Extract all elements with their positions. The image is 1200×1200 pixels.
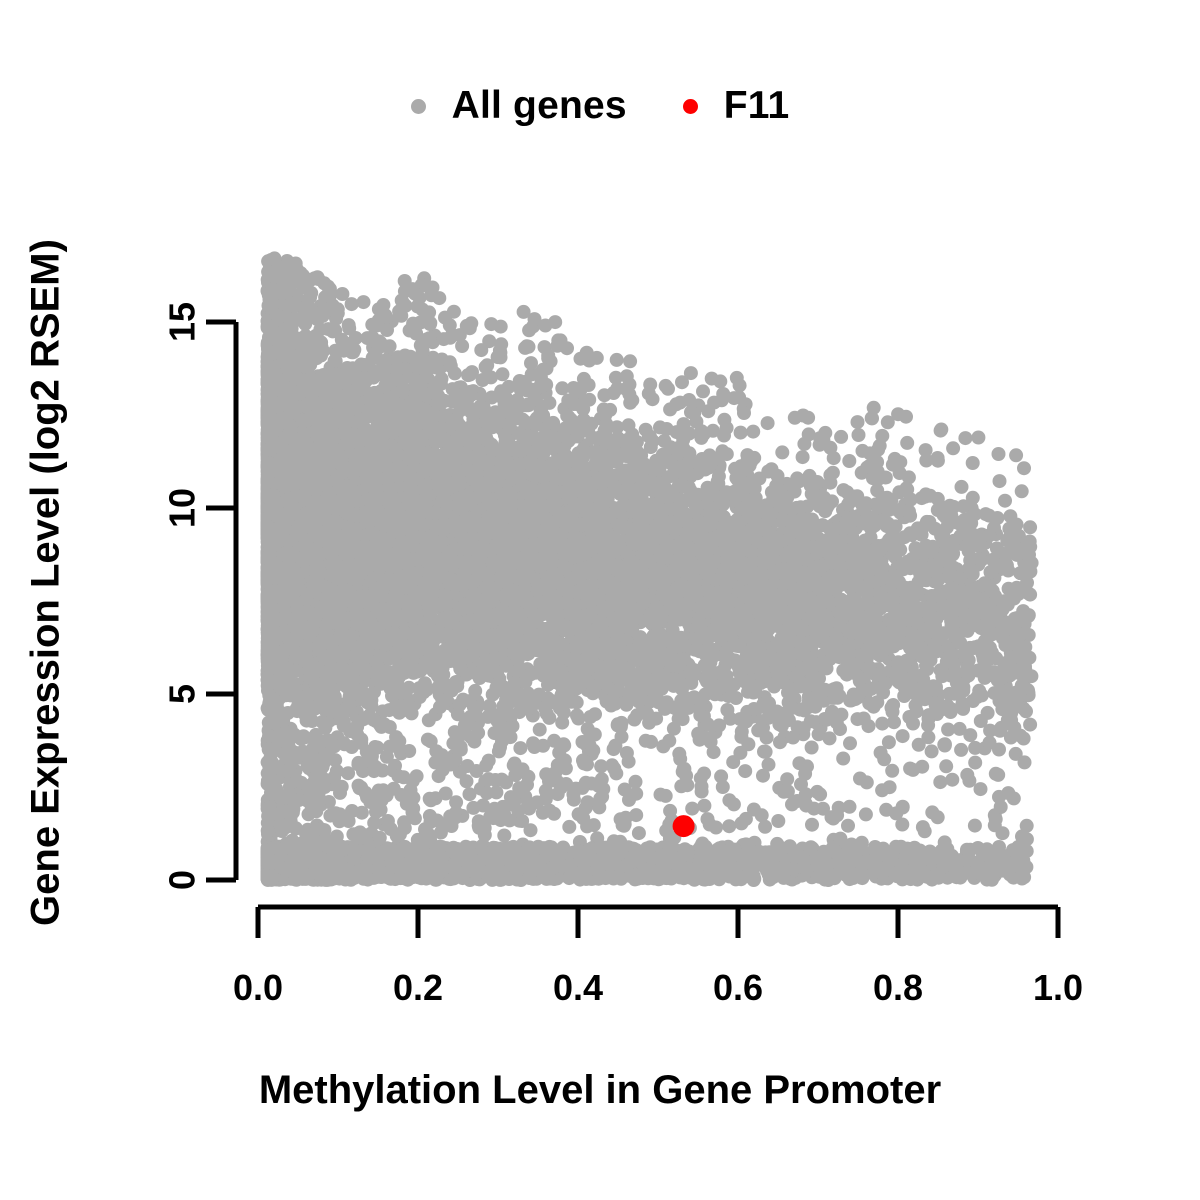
x-tick-label-0-0: 0.0	[233, 967, 283, 1008]
highlighted-point-f11	[673, 815, 695, 837]
x-axis-title: Methylation Level in Gene Promoter	[0, 1068, 1200, 1113]
y-tick-label-15: 15	[162, 302, 203, 342]
x-tick-label-0-8: 0.8	[873, 967, 923, 1008]
y-tick-label-10: 10	[162, 488, 203, 528]
y-axis-title: Gene Expression Level (log2 RSEM)	[24, 183, 69, 983]
plot-canvas: 15 10 5 0 0.0 0.2 0.4 0.6 0.8 1.0	[0, 0, 1200, 1200]
y-axis: 15 10 5 0	[162, 302, 237, 890]
x-tick-label-1-0: 1.0	[1033, 967, 1083, 1008]
y-tick-label-5: 5	[162, 684, 203, 704]
x-tick-label-0-6: 0.6	[713, 967, 763, 1008]
x-tick-label-0-2: 0.2	[393, 967, 443, 1008]
scatter-plot-figure: All genes F11 15 10 5 0	[0, 0, 1200, 1200]
y-tick-label-0: 0	[162, 870, 203, 890]
data-points-layer	[261, 251, 1039, 887]
x-tick-label-0-4: 0.4	[553, 967, 603, 1008]
x-axis: 0.0 0.2 0.4 0.6 0.8 1.0	[233, 907, 1083, 1008]
